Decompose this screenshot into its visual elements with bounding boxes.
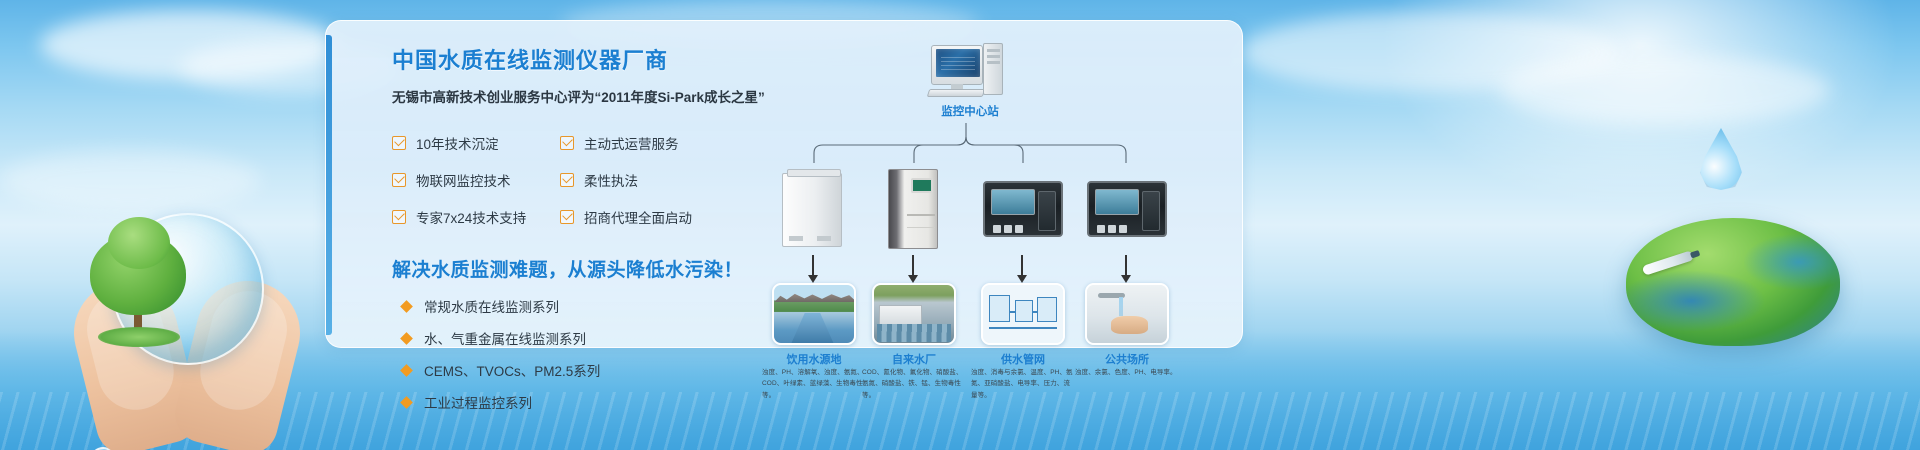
checkbox-checked-icon <box>392 173 406 187</box>
grass-icon <box>98 327 180 347</box>
hands-holding-globe-illustration <box>60 195 320 450</box>
checkbox-checked-icon <box>560 136 574 150</box>
indoor-analyzer-cabinet-icon <box>868 163 960 249</box>
pipe-network-icon <box>981 283 1065 345</box>
public-tap-icon <box>1085 283 1169 345</box>
list-item[interactable]: 水、气重金属在线监测系列 <box>392 328 752 348</box>
node-description: 浊度、余氯、色度、PH、电导率。 <box>1075 367 1179 378</box>
river-source-icon <box>772 283 856 345</box>
monitoring-center-computer-icon <box>931 45 1003 97</box>
checklist-item[interactable]: 物联网监控技术 <box>392 170 560 190</box>
list-item-label: 工业过程监控系列 <box>424 392 532 412</box>
topology-connector-lines <box>761 121 1231 163</box>
node-title: 公共场所 <box>1081 351 1173 367</box>
checklist-item[interactable]: 招商代理全面启动 <box>560 207 728 227</box>
checkbox-checked-icon <box>560 210 574 224</box>
topology-node[interactable]: 公共场所 浊度、余氯、色度、PH、电导率。 <box>1081 163 1173 249</box>
main-content-panel: 中国水质在线监测仪器厂商 无锡市高新技术创业服务中心评为“2011年度Si-Pa… <box>325 20 1243 348</box>
page-title: 中国水质在线监测仪器厂商 <box>392 43 752 75</box>
node-description: COD、氰化物、氟化物、硝酸盐、氨氮、硝酸盐、铁、锰、生物毒性等。 <box>862 367 966 401</box>
checklist-item-label: 10年技术沉淀 <box>416 133 499 153</box>
waterworks-plant-icon <box>872 283 956 345</box>
diamond-bullet-icon <box>400 332 413 345</box>
node-title: 饮用水源地 <box>768 351 860 367</box>
diamond-bullet-icon <box>400 364 413 377</box>
diamond-bullet-icon <box>400 396 413 409</box>
screen-icon <box>936 49 980 77</box>
down-arrow-icon <box>1125 255 1127 277</box>
topology-node[interactable]: 供水管网 浊度、消毒与余氯、温度、PH、氨氮、亚硝酸盐、电导率、压力、流量等。 <box>977 163 1069 249</box>
down-arrow-icon <box>912 255 914 277</box>
node-title: 自来水厂 <box>868 351 960 367</box>
page-subtitle: 无锡市高新技术创业服务中心评为“2011年度Si-Park成长之星” <box>392 86 752 106</box>
checklist-item-label: 物联网监控技术 <box>416 170 511 190</box>
down-arrow-icon <box>812 255 814 277</box>
diamond-bullet-icon <box>400 300 413 313</box>
checklist-item-label: 招商代理全面启动 <box>584 207 692 227</box>
node-description: 浊度、消毒与余氯、温度、PH、氨氮、亚硝酸盐、电导率、压力、流量等。 <box>971 367 1075 401</box>
list-item-label: CEMS、TVOCs、PM2.5系列 <box>424 360 600 380</box>
monitoring-center-label: 监控中心站 <box>900 103 1040 119</box>
list-item[interactable]: 工业过程监控系列 <box>392 392 752 412</box>
monitoring-topology-diagram: 监控中心站 饮用水源地 浊度、PH、溶解氧、浊度、氨氮、COD、叶绿素、蓝绿藻、… <box>761 35 1231 345</box>
checkbox-checked-icon <box>392 136 406 150</box>
product-series-list: 常规水质在线监测系列 水、气重金属在线监测系列 CEMS、TVOCs、PM2.5… <box>392 296 752 412</box>
panel-analyzer-icon <box>977 163 1069 249</box>
checklist-item-label: 主动式运营服务 <box>584 133 679 153</box>
checklist-item[interactable]: 柔性执法 <box>560 170 728 190</box>
tree-foliage-icon <box>108 217 170 269</box>
list-item[interactable]: 常规水质在线监测系列 <box>392 296 752 316</box>
green-earth-icon <box>1626 218 1840 346</box>
checkbox-checked-icon <box>560 173 574 187</box>
pc-tower-icon <box>983 43 1003 95</box>
cloud-decoration <box>1240 12 1620 92</box>
water-drop-icon <box>1700 128 1742 190</box>
node-description: 浊度、PH、溶解氧、浊度、氨氮、COD、叶绿素、蓝绿藻、生物毒性等。 <box>762 367 866 401</box>
feature-checklist: 10年技术沉淀 主动式运营服务 物联网监控技术 柔性执法 专家7x24技术支持 … <box>392 133 752 227</box>
checklist-item[interactable]: 10年技术沉淀 <box>392 133 560 153</box>
cloud-decoration <box>40 10 340 80</box>
panel-accent-bar <box>326 35 332 335</box>
list-item-label: 水、气重金属在线监测系列 <box>424 328 586 348</box>
sun-glow <box>1380 0 1900 210</box>
checklist-item-label: 柔性执法 <box>584 170 638 190</box>
node-title: 供水管网 <box>977 351 1069 367</box>
cloud-decoration <box>1500 55 1830 125</box>
keyboard-icon <box>927 89 986 97</box>
panel-controller-icon <box>1081 163 1173 249</box>
topology-node[interactable]: 自来水厂 COD、氰化物、氟化物、硝酸盐、氨氮、硝酸盐、铁、锰、生物毒性等。 <box>868 163 960 249</box>
list-item[interactable]: CEMS、TVOCs、PM2.5系列 <box>392 360 752 380</box>
list-item-label: 常规水质在线监测系列 <box>424 296 559 316</box>
topology-node[interactable]: 饮用水源地 浊度、PH、溶解氧、浊度、氨氮、COD、叶绿素、蓝绿藻、生物毒性等。 <box>768 163 860 249</box>
checklist-item[interactable]: 主动式运营服务 <box>560 133 728 153</box>
section-title: 解决水质监测难题，从源头降低水污染！ <box>392 255 752 282</box>
checklist-item-label: 专家7x24技术支持 <box>416 207 526 227</box>
left-text-column: 中国水质在线监测仪器厂商 无锡市高新技术创业服务中心评为“2011年度Si-Pa… <box>392 43 752 424</box>
checkbox-checked-icon <box>392 210 406 224</box>
down-arrow-icon <box>1021 255 1023 277</box>
monitor-icon <box>931 45 983 85</box>
checklist-item[interactable]: 专家7x24技术支持 <box>392 207 560 227</box>
outdoor-cabinet-icon <box>768 163 860 249</box>
